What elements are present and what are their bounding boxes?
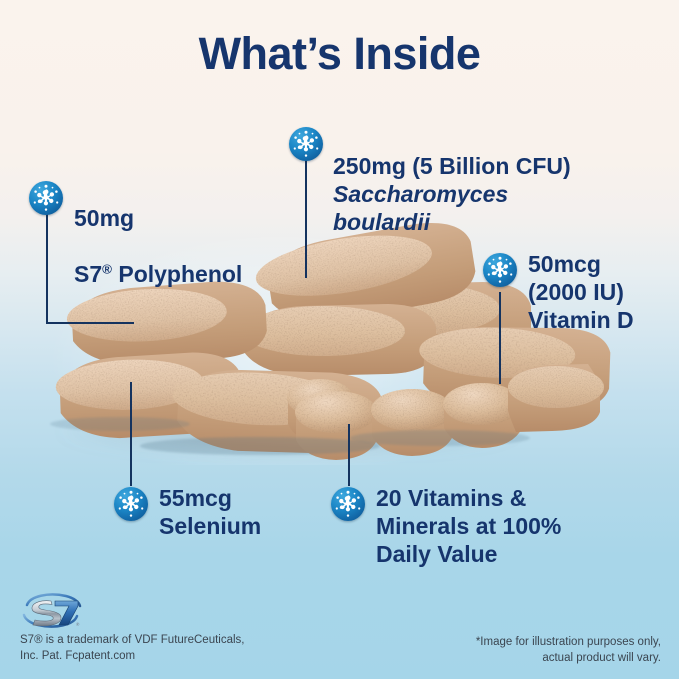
callout-icon-saccharomyces[interactable] [289,127,323,161]
connector-vitamins-minerals [348,424,350,486]
callout-icon-s7-polyphenol[interactable] [29,181,63,215]
supplement-tablets-pile [0,0,679,679]
callout-line-amount: 250mg (5 Billion CFU) [333,153,571,179]
microbe-icon-glyph [29,181,63,215]
callout-line-amount: 50mg [74,205,134,231]
s7-trademark-note: S7® is a trademark of VDF FutureCeutical… [20,632,290,665]
microbe-icon-glyph [289,127,323,161]
tablets-illustration [0,0,679,679]
callout-text-s7-polyphenol: 50mg S7® Polyphenol [74,176,242,288]
callout-icon-selenium[interactable] [114,487,148,521]
callout-text-vitamins-minerals: 20 Vitamins & Minerals at 100% Daily Val… [376,484,561,568]
connector-s7-vertical [46,214,48,324]
callout-icon-vitamins-minerals[interactable] [331,487,365,521]
microbe-icon-glyph [114,487,148,521]
microbe-icon-glyph [331,487,365,521]
callout-line-name: S7® Polyphenol [74,261,242,287]
s7-logo: ® [20,591,84,631]
connector-vitamin-d [499,292,501,384]
svg-text:®: ® [76,621,80,627]
connector-saccharomyces [305,160,307,278]
callout-text-saccharomyces: 250mg (5 Billion CFU) Saccharomyces boul… [333,124,571,264]
callout-text-selenium: 55mcg Selenium [159,484,261,540]
callout-line-species: Saccharomyces boulardii [333,180,571,236]
infographic-canvas: What’s Inside [0,0,679,679]
microbe-icon-glyph [483,253,517,287]
image-disclaimer: *Image for illustration purposes only, a… [371,634,661,667]
connector-s7-horizontal [46,322,134,324]
page-title: What’s Inside [0,28,679,80]
callout-icon-vitamin-d[interactable] [483,253,517,287]
callout-text-vitamin-d: 50mcg (2000 IU) Vitamin D [528,250,634,334]
connector-selenium [130,382,132,486]
